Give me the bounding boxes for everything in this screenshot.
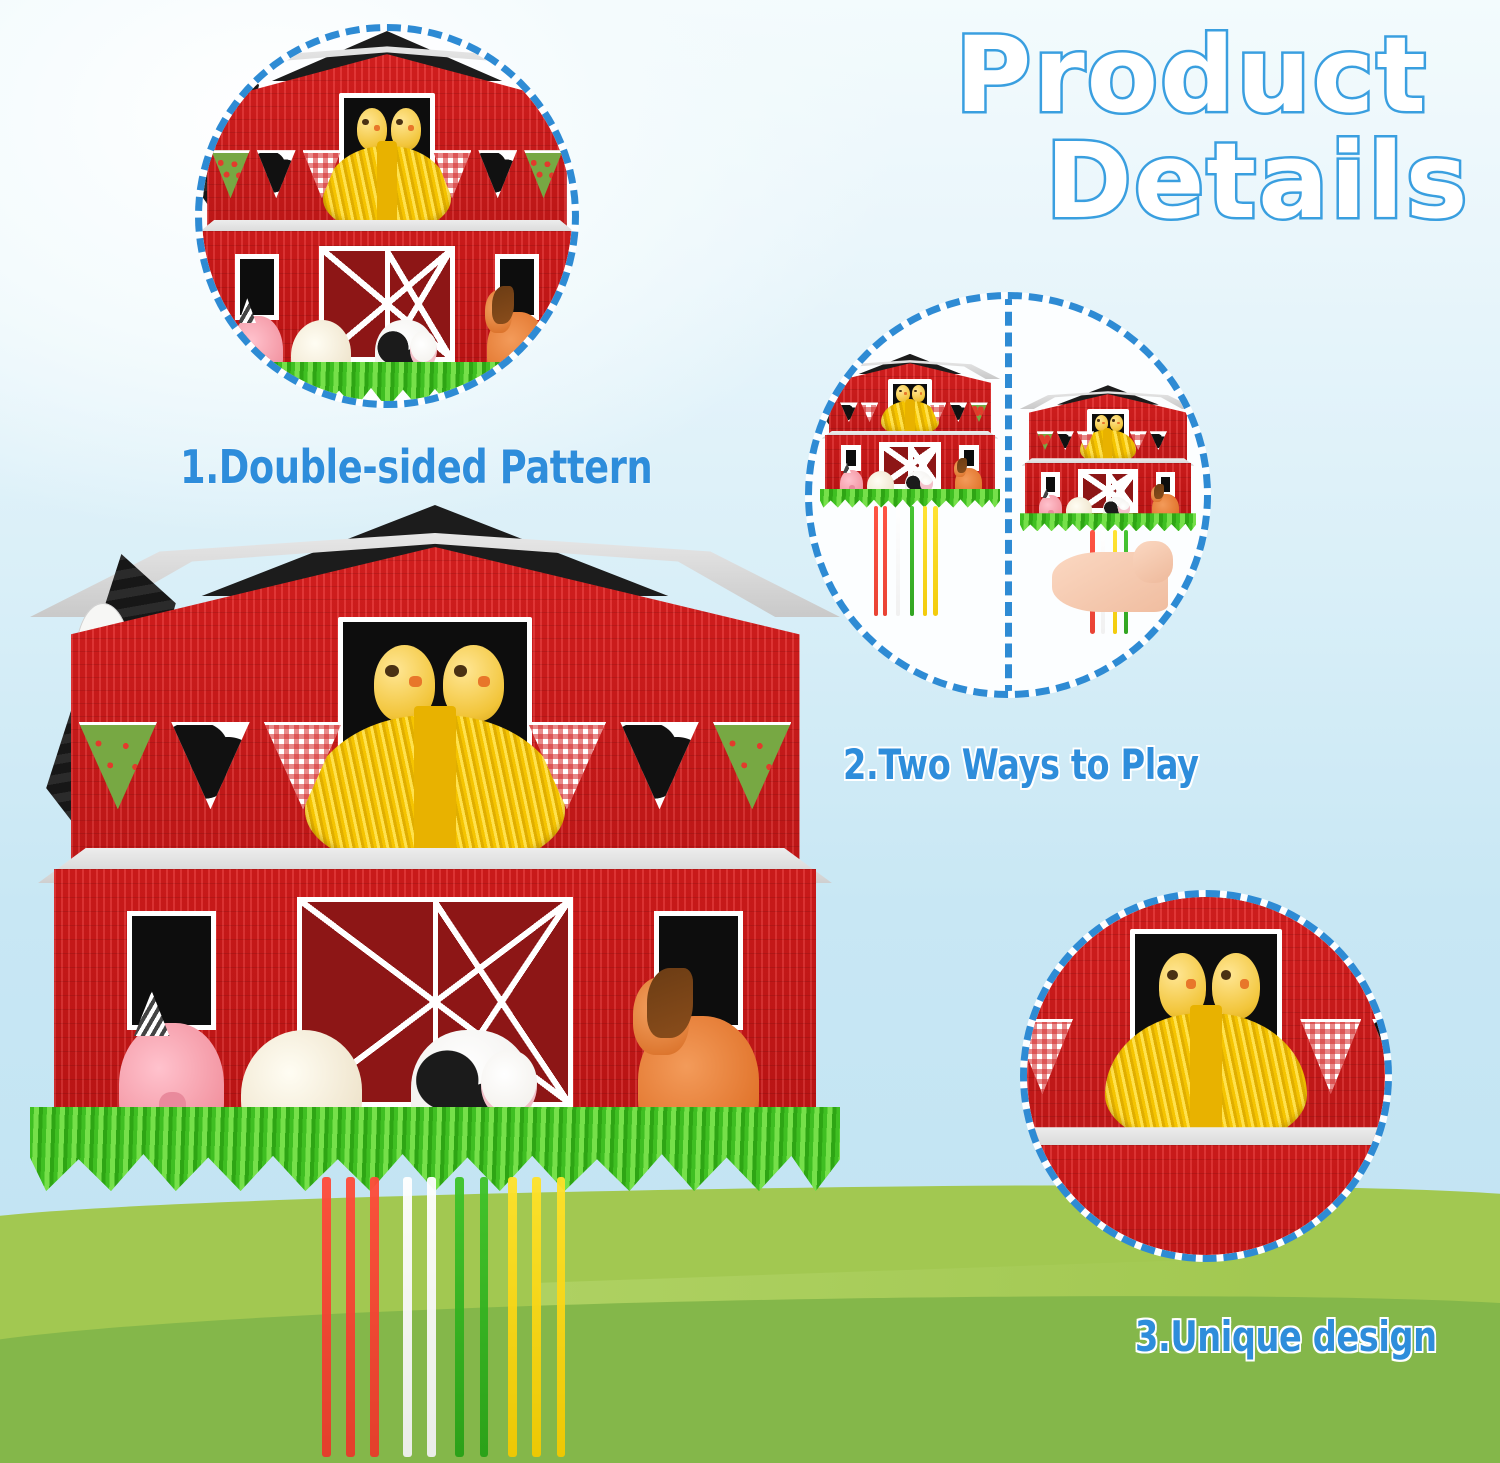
barn-pinata-hanging — [820, 354, 1000, 511]
flag-red-gingham-2 — [433, 150, 472, 198]
streamer-red — [370, 1177, 379, 1457]
flag-cow-print-2 — [1150, 431, 1167, 450]
flag-green-apple-1 — [970, 402, 987, 422]
title-line-product: Product — [905, 26, 1490, 126]
flag-cow-print-2 — [1372, 1019, 1385, 1094]
streamer-white — [403, 1177, 412, 1457]
streamer-white — [896, 506, 900, 616]
feature-2-circle-two-ways-to-play — [805, 292, 1211, 698]
page-title: Product Details — [905, 26, 1490, 241]
bunting-banner — [1030, 431, 1185, 455]
flag-red-gingham-1 — [1027, 1019, 1073, 1094]
barn-pinata-front-inset — [202, 31, 572, 401]
flag-red-gingham-1 — [861, 402, 878, 422]
flag-red-gingham-2 — [929, 402, 946, 422]
grass-fringe-trim — [1020, 513, 1196, 531]
flag-green-apple-1 — [1037, 431, 1054, 450]
split-divider-dashed — [1005, 299, 1012, 691]
flag-cow-print-2 — [620, 722, 698, 809]
pull-string-streamers-main — [30, 1177, 840, 1457]
flag-green-apple-1 — [211, 150, 250, 198]
streamer-green — [480, 1177, 489, 1457]
flag-red-gingham-2 — [528, 722, 606, 809]
flag-cow-print-1 — [840, 402, 857, 422]
feature-1-caption: 1.Double-sided Pattern — [180, 440, 652, 494]
barn-window-left — [235, 254, 279, 319]
bunting-banner — [831, 402, 990, 427]
bunting-banner — [211, 150, 563, 212]
feature-3-clip — [1027, 897, 1385, 1255]
product-details-stage: Product Details — [0, 0, 1500, 1463]
feature-2-caption: 2.Two Ways to Play — [843, 740, 1199, 789]
streamer-white — [427, 1177, 436, 1457]
grass-fringe-trim — [820, 489, 1000, 508]
bunting-banner — [79, 722, 792, 834]
flag-red-gingham-2 — [1300, 1019, 1361, 1094]
feature-1-circle-double-sided-pattern — [195, 24, 579, 408]
streamer-red — [322, 1177, 331, 1457]
streamer-yellow — [933, 506, 937, 616]
grass-fringe-trim — [202, 362, 572, 401]
flag-cow-print-2 — [950, 402, 967, 422]
pull-string-streamers-left — [820, 506, 1000, 616]
flag-green-apple-2 — [713, 722, 791, 809]
title-line-details: Details — [905, 132, 1490, 232]
flag-cow-print-1 — [257, 150, 296, 198]
streamer-green — [455, 1177, 464, 1457]
streamer-red — [874, 506, 878, 616]
feature-2-clip — [812, 299, 1204, 691]
barn-pinata-main — [30, 505, 840, 1205]
feature-3-circle-unique-design — [1020, 890, 1392, 1262]
feature-3-caption: 3.Unique design — [1135, 1312, 1437, 1361]
flag-cow-print-2 — [478, 150, 517, 198]
streamer-yellow — [557, 1177, 566, 1457]
flag-red-gingham-2 — [1130, 431, 1147, 450]
barn-window-left — [1041, 472, 1060, 497]
feature-1-clip — [202, 31, 572, 401]
chick-right-icon — [1110, 415, 1123, 431]
flag-cow-print-1 — [171, 722, 249, 809]
streamer-red — [883, 506, 887, 616]
streamer-green — [910, 506, 914, 616]
flag-red-gingham-1 — [303, 150, 342, 198]
flag-green-apple-2 — [524, 150, 563, 198]
streamer-red — [346, 1177, 355, 1457]
flag-red-gingham-1 — [1077, 431, 1094, 450]
bunting-banner — [1027, 1019, 1385, 1115]
barn-pinata-pulled-by-hand — [1020, 385, 1196, 534]
streamer-yellow — [532, 1177, 541, 1457]
hayloft-closeup-barn — [1027, 897, 1385, 1255]
streamer-yellow — [923, 506, 927, 616]
hand-pulling-strings — [1052, 552, 1168, 612]
main-product-image-barn-pinata — [30, 505, 840, 1205]
barn-window-left — [127, 911, 216, 1030]
barn-lower-wall — [1027, 1145, 1385, 1255]
barn-window-left — [841, 445, 861, 472]
flag-cow-print-1 — [1057, 431, 1074, 450]
streamer-yellow — [508, 1177, 517, 1457]
flag-green-apple-1 — [79, 722, 157, 809]
flag-red-gingham-1 — [264, 722, 342, 809]
